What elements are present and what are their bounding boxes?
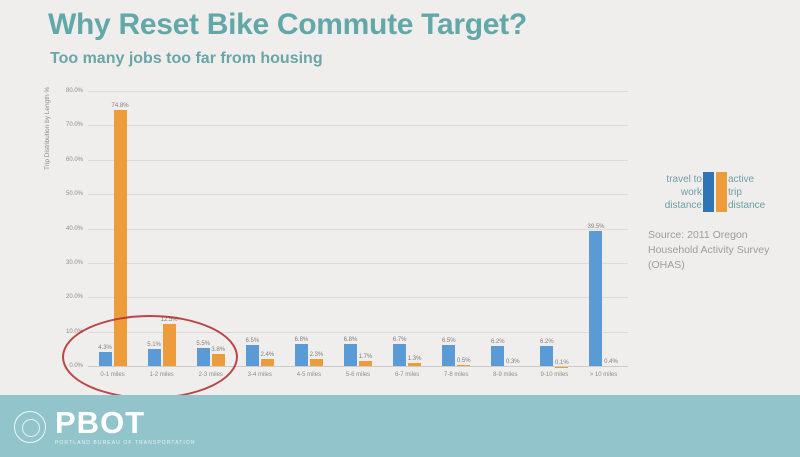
bar-value-label: 4.3% <box>98 345 112 351</box>
chart-bar-group: 4.3%74.8%0-1 miles <box>88 92 137 367</box>
chart-legend: travel to work distance active trip dist… <box>640 172 790 212</box>
x-axis-line <box>88 366 628 367</box>
chart-bar-group: 6.5%0.5%7-8 miles <box>432 92 481 367</box>
y-axis-title: Trip Distribution by Length % <box>44 87 51 170</box>
source-line-2: Household Activity Survey <box>648 243 793 258</box>
bar-value-label: 6.5% <box>442 338 456 344</box>
bar-value-label: 2.4% <box>260 352 274 358</box>
bar-value-label: 0.4% <box>604 359 618 365</box>
chart-bar[interactable]: 39.5% <box>589 231 602 367</box>
bar-value-label: 6.8% <box>295 337 309 343</box>
y-axis-tick-label: 70.0% <box>66 122 83 128</box>
slide-title: Why Reset Bike Commute Target? <box>48 8 527 42</box>
legend-right-line2: trip <box>728 186 765 199</box>
legend-left-line3: distance <box>665 199 702 212</box>
bar-value-label: 6.5% <box>245 338 259 344</box>
chart-bar[interactable]: 74.8% <box>114 110 127 367</box>
bar-value-label: 2.3% <box>310 352 324 358</box>
bar-value-label: 5.1% <box>147 342 161 348</box>
chart-bar-group: 5.5%3.8%2-3 miles <box>186 92 235 367</box>
bar-value-label: 5.5% <box>196 341 210 347</box>
chart-bar-group: 5.1%12.5%1-2 miles <box>137 92 186 367</box>
chart-bar[interactable]: 6.2% <box>491 346 504 367</box>
x-axis-category-label: 1-2 miles <box>149 372 173 378</box>
chart-bar[interactable]: 6.5% <box>246 345 259 367</box>
chart-bar-group: 39.5%0.4%> 10 miles <box>579 92 628 367</box>
x-axis-category-label: 7-8 miles <box>444 372 468 378</box>
slide-footer: PBOT PORTLAND BUREAU OF TRANSPORTATION <box>0 395 800 457</box>
chart-bar-groups: 4.3%74.8%0-1 miles5.1%12.5%1-2 miles5.5%… <box>88 92 628 367</box>
legend-label-travel-to-work: travel to work distance <box>665 173 702 212</box>
y-axis-tick-label: 40.0% <box>66 226 83 232</box>
x-axis-category-label: 3-4 miles <box>248 372 272 378</box>
bar-value-label: 1.3% <box>408 356 422 362</box>
x-axis-category-label: 2-3 miles <box>199 372 223 378</box>
bar-value-label: 12.5% <box>161 317 178 323</box>
bar-value-label: 6.2% <box>491 339 505 345</box>
legend-label-active-trip: active trip distance <box>728 173 765 212</box>
slide-subtitle: Too many jobs too far from housing <box>50 50 323 68</box>
chart-bar[interactable]: 6.8% <box>295 344 308 367</box>
source-note: Source: 2011 Oregon Household Activity S… <box>648 228 793 273</box>
pbot-tagline: PORTLAND BUREAU OF TRANSPORTATION <box>55 441 196 446</box>
chart-bar[interactable]: 5.1% <box>148 349 161 367</box>
legend-left-line2: work <box>665 186 702 199</box>
pbot-logo: PBOT PORTLAND BUREAU OF TRANSPORTATION <box>14 407 196 446</box>
y-axis-tick-label: 20.0% <box>66 294 83 300</box>
chart-bar-group: 6.8%1.7%5-6 miles <box>333 92 382 367</box>
x-axis-category-label: 0-1 miles <box>100 372 124 378</box>
x-axis-category-label: 8-9 miles <box>493 372 517 378</box>
pbot-wordmark: PBOT <box>55 407 196 438</box>
y-axis-tick-label: 60.0% <box>66 157 83 163</box>
pbot-logo-text: PBOT PORTLAND BUREAU OF TRANSPORTATION <box>55 407 196 446</box>
chart-bar[interactable]: 6.8% <box>344 344 357 367</box>
y-axis-tick-label: 50.0% <box>66 191 83 197</box>
chart-bar[interactable]: 6.2% <box>540 346 553 367</box>
chart-bar[interactable]: 4.3% <box>99 352 112 367</box>
x-axis-category-label: 6-7 miles <box>395 372 419 378</box>
chart-bar[interactable]: 6.7% <box>393 344 406 367</box>
legend-swatch-orange-icon <box>716 172 727 212</box>
bar-value-label: 39.5% <box>587 224 604 230</box>
chart-plot-area: 0.0%10.0%20.0%30.0%40.0%50.0%60.0%70.0%8… <box>88 92 628 367</box>
source-line-1: Source: 2011 Oregon <box>648 228 793 243</box>
chart-bar-group: 6.2%0.1%9-10 miles <box>530 92 579 367</box>
bar-value-label: 6.7% <box>393 337 407 343</box>
legend-left-line1: travel to <box>665 173 702 186</box>
x-axis-category-label: > 10 miles <box>590 372 618 378</box>
x-axis-category-label: 5-6 miles <box>346 372 370 378</box>
chart-bar[interactable]: 12.5% <box>163 324 176 367</box>
chart-bar-group: 6.8%2.3%4-5 miles <box>284 92 333 367</box>
bar-value-label: 0.3% <box>506 359 520 365</box>
chart-bar-group: 6.2%0.3%8-9 miles <box>481 92 530 367</box>
chart-bar[interactable]: 6.5% <box>442 345 455 367</box>
x-axis-category-label: 9-10 miles <box>541 372 569 378</box>
legend-swatch-blue-icon <box>703 172 714 212</box>
city-seal-icon <box>14 411 46 443</box>
presentation-slide: Why Reset Bike Commute Target? Too many … <box>0 0 800 457</box>
y-axis-tick-label: 0.0% <box>69 363 83 369</box>
chart-bar-group: 6.7%1.3%6-7 miles <box>383 92 432 367</box>
chart-bar[interactable]: 5.5% <box>197 348 210 367</box>
bar-value-label: 0.1% <box>555 360 569 366</box>
y-axis-tick-label: 80.0% <box>66 88 83 94</box>
bar-value-label: 6.8% <box>344 337 358 343</box>
bar-value-label: 1.7% <box>359 354 373 360</box>
legend-right-line3: distance <box>728 199 765 212</box>
bar-value-label: 3.8% <box>211 347 225 353</box>
y-axis-tick-label: 10.0% <box>66 329 83 335</box>
bar-value-label: 74.8% <box>112 103 129 109</box>
y-axis-tick-label: 30.0% <box>66 260 83 266</box>
bar-value-label: 0.5% <box>457 358 471 364</box>
legend-right-line1: active <box>728 173 765 186</box>
source-line-3: (OHAS) <box>648 258 793 273</box>
bar-value-label: 6.2% <box>540 339 554 345</box>
chart-bar-group: 6.5%2.4%3-4 miles <box>235 92 284 367</box>
x-axis-category-label: 4-5 miles <box>297 372 321 378</box>
